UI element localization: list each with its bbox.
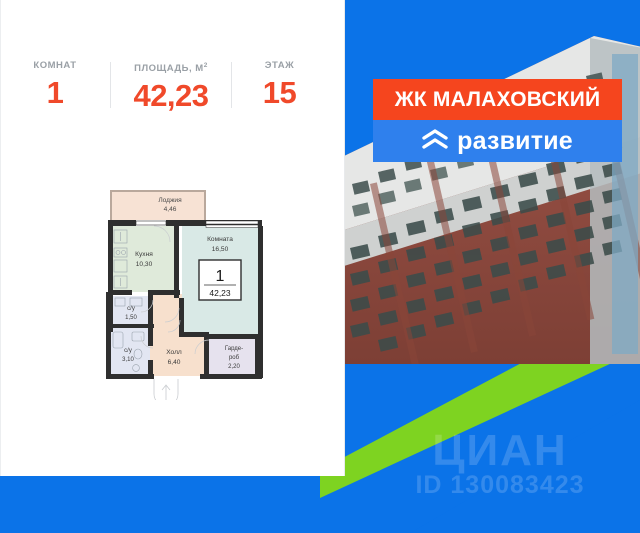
plan-summary-badge: 1 42,23 xyxy=(199,260,241,300)
plan-summary-area: 42,23 xyxy=(209,288,231,298)
listing-card: КОМНАТ 1 ПЛОЩАДЬ, М2 42,23 ЭТАЖ 15 xyxy=(0,0,345,476)
plan-label-hall-area: 6,40 xyxy=(168,359,181,366)
plan-label-loggia-name: Лоджия xyxy=(158,197,182,204)
stat-area: ПЛОЩАДЬ, М2 42,23 xyxy=(111,60,231,115)
plan-label-living-name: Комната xyxy=(207,236,233,243)
plan-label-wc1-name: с/у xyxy=(127,306,135,312)
stat-rooms-label: КОМНАТ xyxy=(33,60,76,72)
stats-header: КОМНАТ 1 ПЛОЩАДЬ, М2 42,23 ЭТАЖ 15 xyxy=(0,60,345,140)
plan-label-living-area: 16,50 xyxy=(212,246,229,253)
promo-panel: ЖК МАЛАХОВСКИЙ развитие ЦИАН ID 13008342… xyxy=(320,0,640,533)
stat-rooms-value: 1 xyxy=(47,74,64,112)
plan-label-kitchen-area: 10,30 xyxy=(136,261,153,268)
plan-label-wc2-name: с/у xyxy=(124,348,132,354)
stat-floor-label: ЭТАЖ xyxy=(265,60,294,72)
stat-rooms: КОМНАТ 1 xyxy=(0,60,110,112)
brand-top-text: ЖК МАЛАХОВСКИЙ xyxy=(395,88,601,112)
screenshot-root: ЖК МАЛАХОВСКИЙ развитие ЦИАН ID 13008342… xyxy=(0,0,640,533)
plan-entrance-marker xyxy=(154,379,178,400)
plan-label-kitchen-name: Кухня xyxy=(135,251,153,258)
double-chevron-up-icon xyxy=(422,128,448,155)
plan-room-kitchen-fill xyxy=(112,226,174,292)
stat-floor-value: 15 xyxy=(263,74,296,112)
floor-plan: Лоджия 4,46 Кухня 10,30 Комната 16,50 с/… xyxy=(92,188,276,400)
stat-area-value: 42,23 xyxy=(133,77,208,115)
brand-bottom-text: развитие xyxy=(457,127,573,156)
plan-label-hall-name: Холл xyxy=(166,349,182,356)
plan-summary-rooms: 1 xyxy=(216,268,225,285)
plan-label-wardrobe-area: 2,20 xyxy=(228,364,240,370)
plan-label-loggia-area: 4,46 xyxy=(164,206,177,213)
plan-label-wardrobe-name2: роб xyxy=(229,355,240,361)
brand-bottom-banner: развитие xyxy=(373,120,622,162)
brand-top-banner: ЖК МАЛАХОВСКИЙ xyxy=(373,79,622,120)
stat-area-label: ПЛОЩАДЬ, М2 xyxy=(134,60,208,75)
brand-logo-block: ЖК МАЛАХОВСКИЙ развитие xyxy=(373,79,622,162)
plan-label-wc2-area: 3,10 xyxy=(122,357,134,363)
plan-label-wardrobe-name: Гарде- xyxy=(225,346,243,352)
stat-floor: ЭТАЖ 15 xyxy=(232,60,327,112)
plan-label-wc1-area: 1,50 xyxy=(125,315,137,321)
